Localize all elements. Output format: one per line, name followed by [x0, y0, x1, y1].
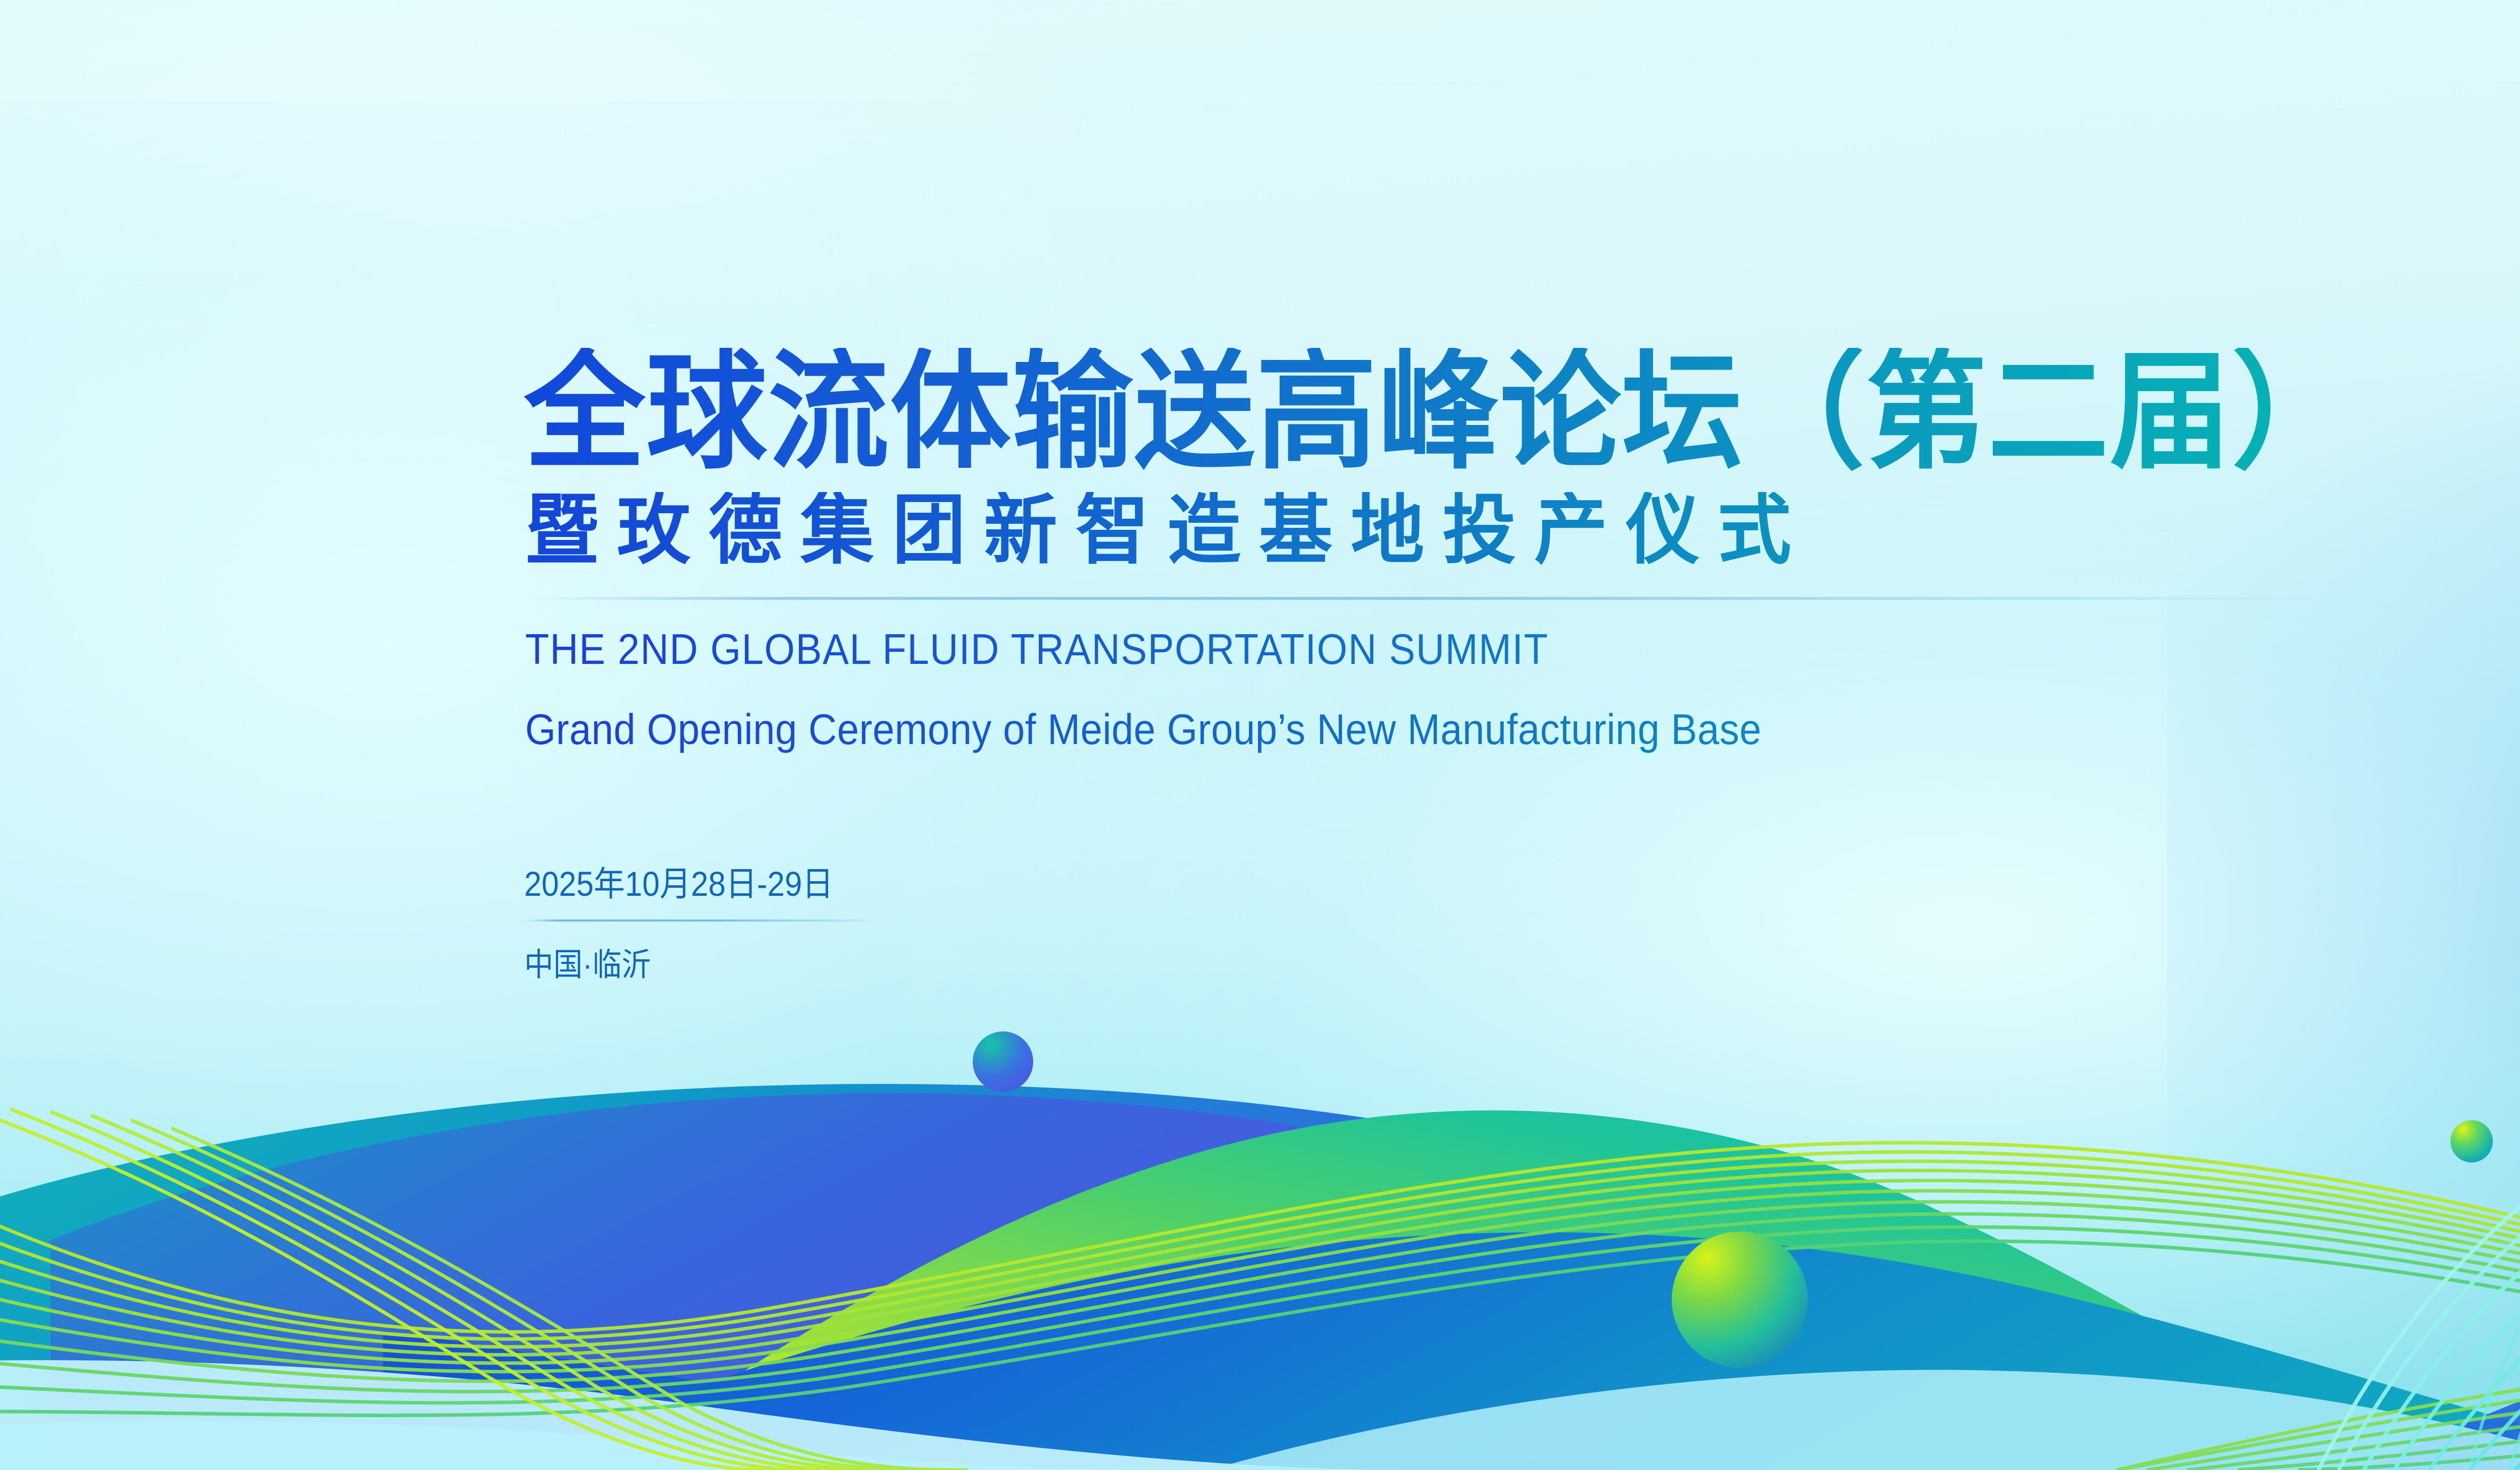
- sphere-small-blue: [973, 1031, 1033, 1092]
- poster-text-block: 全球流体输送高峰论坛（第二届） 暨玫德集团新智造基地投产仪式 THE 2ND G…: [524, 348, 2520, 981]
- poster-canvas: 全球流体输送高峰论坛（第二届） 暨玫德集团新智造基地投产仪式 THE 2ND G…: [0, 0, 2520, 1470]
- title-english: THE 2ND GLOBAL FLUID TRANSPORTATION SUMM…: [525, 624, 2520, 675]
- event-date: 2025年10月28日-29日: [524, 856, 1028, 906]
- page-title-chinese: 全球流体输送高峰论坛（第二届）: [524, 348, 2520, 476]
- subtitle-english: Grand Opening Ceremony of Meide Group’s …: [525, 704, 2520, 755]
- event-location: 中国·临沂: [524, 939, 1028, 985]
- meta-divider: [524, 920, 877, 922]
- event-meta: 2025年10月28日-29日 中国·临沂: [524, 856, 1028, 981]
- subtitle-divider: [524, 597, 2318, 600]
- sphere-small-green: [2450, 1120, 2493, 1162]
- subtitle-chinese: 暨玫德集团新智造基地投产仪式: [525, 492, 2520, 569]
- sphere-large-green: [1672, 1232, 1808, 1368]
